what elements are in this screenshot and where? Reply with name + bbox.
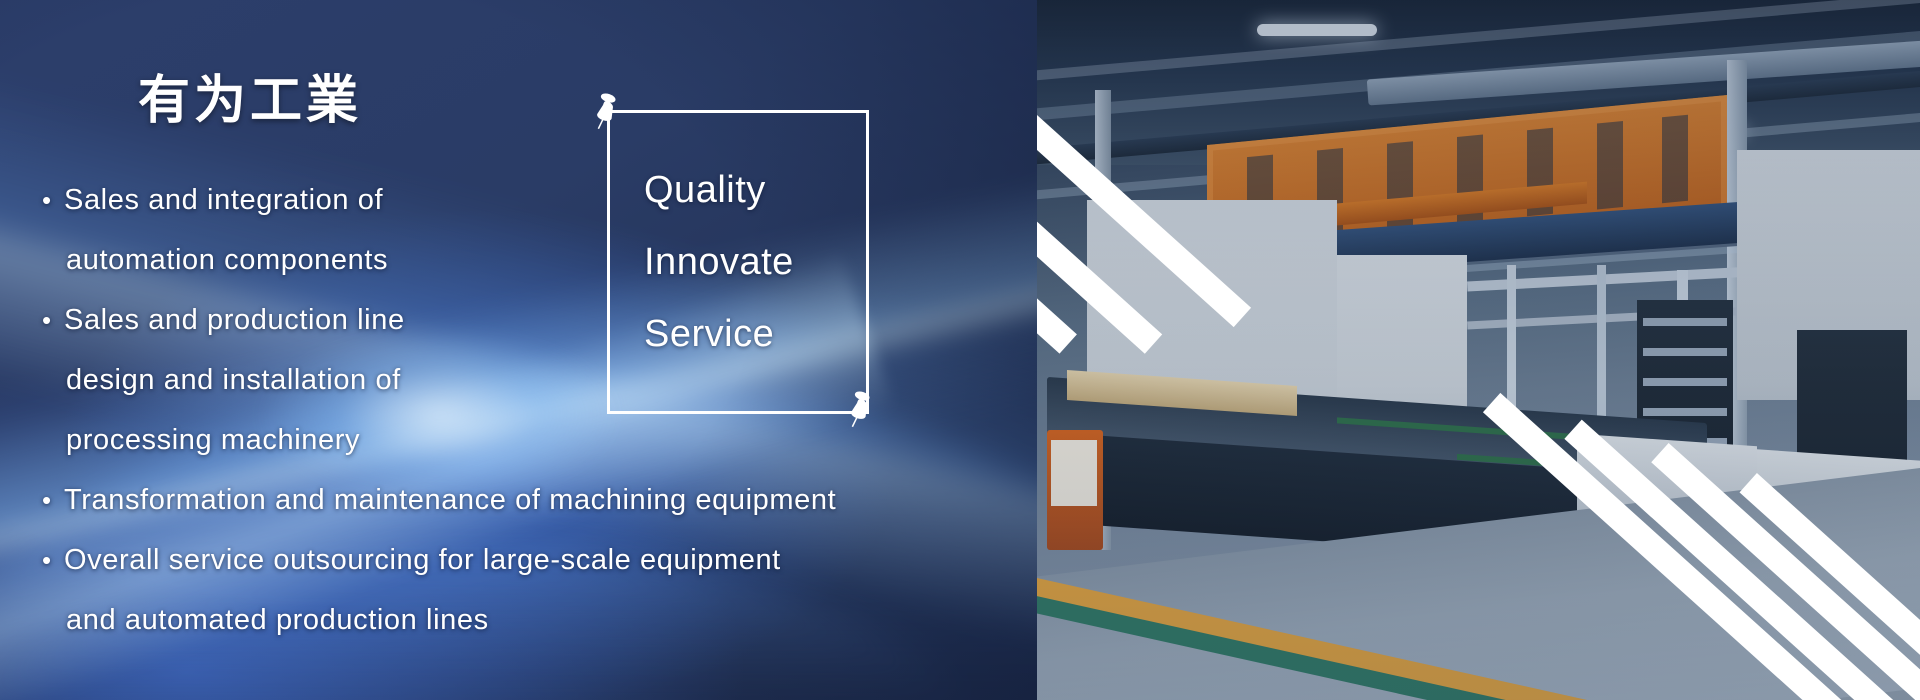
bullet-text: Transformation and maintenance of machin… [64,484,836,516]
bullet-marker: • [42,290,64,350]
bullet-text: Overall service outsourcing for large-sc… [64,544,781,576]
bullet-text: design and installation of [66,364,401,396]
page-title: 有为工業 [138,58,362,133]
value-word-quality: Quality [644,171,866,209]
bullet-marker: • [42,170,64,230]
bullet-text: Sales and production line [64,304,405,336]
values-pin-box: Quality Innovate Service [607,110,869,414]
pushpin-icon [590,91,634,135]
bullet-text: Sales and integration of [64,184,383,216]
bullet-marker: • [42,470,64,530]
factory-photo [1037,0,1920,700]
pushpin-icon [844,389,888,433]
slide-canvas: 有为工業 •Sales and integration of automatio… [0,0,1920,700]
bullet-text: and automated production lines [66,604,489,636]
photo-color-tint [1037,0,1920,700]
value-word-service: Service [644,315,866,353]
bullet-marker: • [42,530,64,590]
values-list: Quality Innovate Service [610,113,866,411]
list-item: •Sales and integration of automation com… [30,170,1037,290]
list-item: •Overall service outsourcing for large-s… [30,530,1037,650]
bullet-text: automation components [66,244,388,276]
value-word-innovate: Innovate [644,243,866,281]
list-item: •Sales and production line design and in… [30,290,1037,470]
list-item: •Transformation and maintenance of machi… [30,470,1037,530]
left-content-panel: 有为工業 •Sales and integration of automatio… [0,0,1037,700]
bullet-text: processing machinery [66,424,360,456]
